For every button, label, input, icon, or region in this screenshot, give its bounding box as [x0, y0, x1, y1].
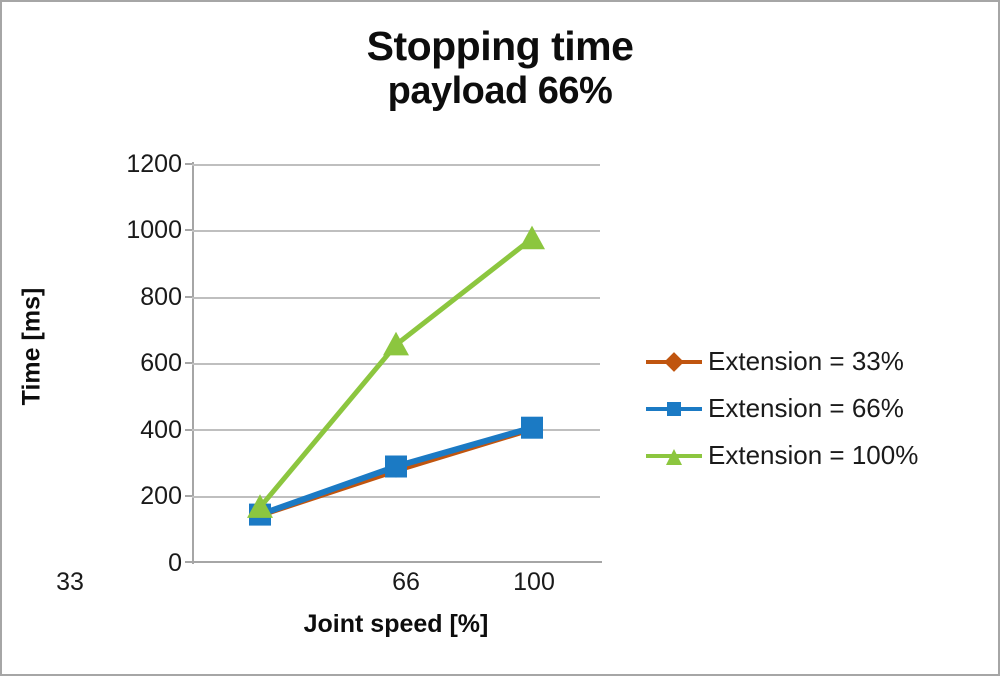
x-tick-label-33: 33 [10, 568, 130, 597]
legend-swatch-diamond-icon [646, 350, 702, 374]
data-point-2-3 [521, 417, 543, 439]
chart-legend: Extension = 33% Extension = 66% Extensio… [646, 338, 996, 479]
legend-item-extension-66[interactable]: Extension = 66% [646, 385, 996, 432]
y-tick-label-200: 200 [102, 482, 182, 511]
plot-area [192, 164, 600, 562]
legend-swatch-triangle-icon [646, 444, 702, 468]
legend-marker-2 [666, 449, 682, 465]
data-point-2-2 [385, 456, 407, 478]
y-tick-label-1200: 1200 [102, 150, 182, 179]
legend-label-1: Extension = 66% [708, 393, 904, 424]
chart-frame: Stopping time payload 66% Time [ms] 1200… [0, 0, 1000, 676]
legend-swatch-square-icon [646, 397, 702, 421]
data-point-3-3 [519, 226, 545, 250]
legend-marker-0 [664, 352, 684, 372]
series-plot [192, 164, 600, 562]
series-group [247, 226, 545, 526]
x-tick-label-100: 100 [474, 568, 594, 597]
legend-item-extension-33[interactable]: Extension = 33% [646, 338, 996, 385]
x-axis-title: Joint speed [%] [192, 610, 600, 639]
y-tick-label-600: 600 [102, 349, 182, 378]
y-tick-label-800: 800 [102, 283, 182, 312]
x-tick-label-66: 66 [346, 568, 466, 597]
legend-label-2: Extension = 100% [708, 440, 918, 471]
legend-marker-1 [667, 402, 681, 416]
y-tick-label-400: 400 [102, 416, 182, 445]
y-axis-title: Time [ms] [18, 277, 47, 417]
legend-label-0: Extension = 33% [708, 346, 904, 377]
legend-item-extension-100[interactable]: Extension = 100% [646, 432, 996, 479]
y-tick-label-1000: 1000 [102, 216, 182, 245]
